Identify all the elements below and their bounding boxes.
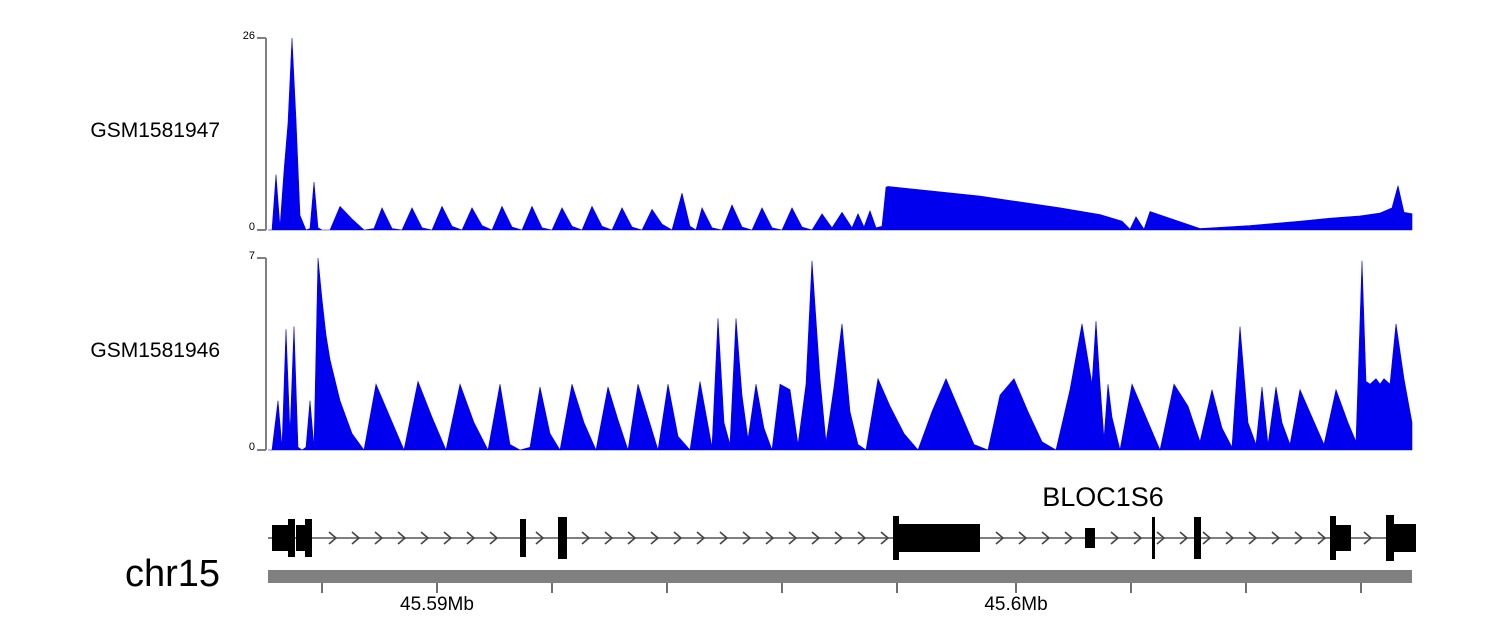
exon-block[interactable] (558, 517, 567, 559)
exon-block[interactable] (893, 524, 980, 552)
exon-block[interactable] (305, 519, 312, 557)
coordinate-axis[interactable] (250, 565, 1440, 595)
coverage-track-gsm1581947 (250, 30, 1420, 240)
axis-tick-label: 45.59Mb (347, 594, 527, 616)
genome-browser-view: GSM1581947 26 0 GSM1581946 7 0 BLOC1S6 c… (0, 0, 1500, 640)
track2-svg (250, 250, 1420, 460)
exon-block[interactable] (272, 525, 290, 551)
track1-svg (250, 30, 1420, 240)
track1-ymax-label: 26 (215, 30, 255, 42)
axis-tick-label: 45.6Mb (926, 594, 1106, 616)
track2-area-path (268, 258, 1412, 450)
ideogram-bar[interactable] (268, 570, 1412, 583)
axis-tick-marks (322, 583, 1361, 593)
coordinate-axis-svg[interactable] (250, 565, 1440, 595)
track2-axis (257, 258, 266, 450)
track2-ymin-label: 0 (215, 441, 255, 453)
exon-block[interactable] (288, 519, 295, 557)
coverage-track-gsm1581946 (250, 250, 1420, 460)
track2-ymax-label: 7 (215, 250, 255, 262)
track1-ymin-label: 0 (215, 221, 255, 233)
exon-block[interactable] (1085, 528, 1095, 548)
chromosome-label: chr15 (20, 553, 220, 596)
exon-block[interactable] (1388, 524, 1416, 552)
exon-block[interactable] (520, 519, 526, 557)
exon-block[interactable] (1194, 517, 1201, 559)
track1-area-path (268, 38, 1412, 230)
track1-axis (257, 38, 266, 230)
track-label-gsm1581946: GSM1581946 (20, 339, 220, 363)
track-label-gsm1581947: GSM1581947 (20, 119, 220, 143)
exon-block[interactable] (1332, 525, 1351, 551)
exon-block[interactable] (1152, 517, 1155, 559)
